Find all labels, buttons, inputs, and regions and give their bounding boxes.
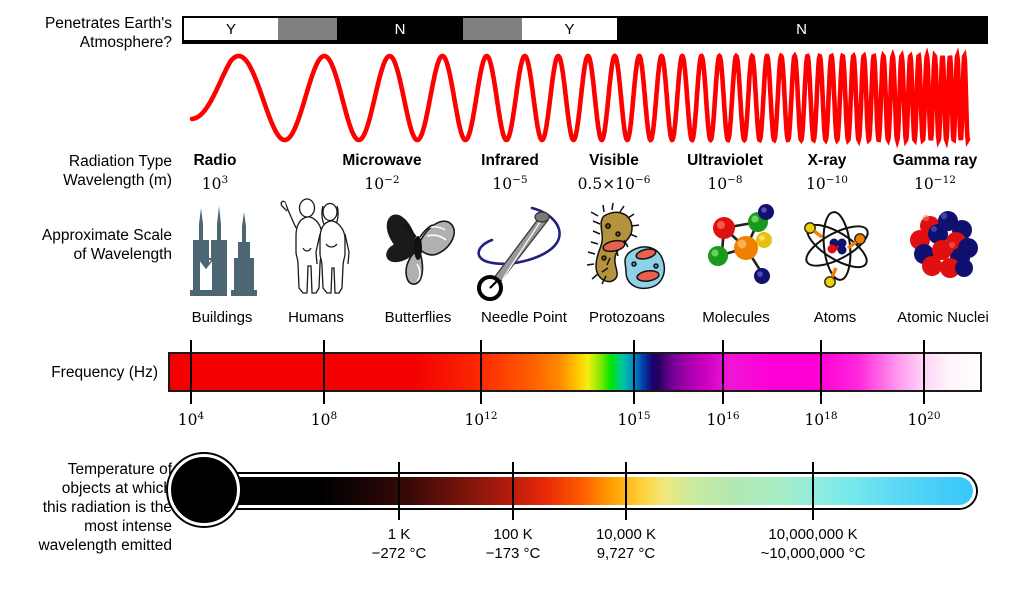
atmosphere-answer-n-5: N bbox=[617, 16, 986, 44]
wavelength-value-radio: 103 bbox=[125, 174, 305, 193]
temperature-tick-1 bbox=[512, 462, 514, 520]
buildings-icon bbox=[186, 198, 260, 298]
frequency-label-4: 104 bbox=[130, 410, 252, 429]
em-spectrum-diagram: Penetrates Earth's Atmosphere? YNYN Radi… bbox=[0, 0, 1010, 593]
frequency-label: Frequency (Hz) bbox=[6, 363, 158, 382]
atmosphere-answer-n-2: N bbox=[337, 16, 463, 44]
thermometer-bulb bbox=[168, 454, 240, 526]
atmosphere-label-line1: Penetrates Earth's bbox=[6, 14, 172, 33]
frequency-tick-18 bbox=[820, 340, 822, 404]
atmosphere-label-line2: Atmosphere? bbox=[6, 33, 172, 52]
humans-icon bbox=[277, 196, 357, 298]
atmosphere-segment-gray bbox=[463, 18, 522, 40]
em-wave-svg bbox=[180, 48, 980, 148]
temperature-celsius-3: ~10,000,000 °C bbox=[722, 544, 904, 563]
frequency-tick-12 bbox=[480, 340, 482, 404]
temperature-label-line1: Temperature of bbox=[6, 460, 172, 479]
temperature-row-label: Temperature ofobjects at whichthis radia… bbox=[6, 460, 172, 555]
frequency-tick-20 bbox=[923, 340, 925, 404]
frequency-label-8: 108 bbox=[263, 410, 385, 429]
wave-graphic bbox=[180, 48, 980, 148]
temperature-label-line4: most intense bbox=[6, 517, 172, 536]
temperature-label-line5: wavelength emitted bbox=[6, 536, 172, 555]
atmosphere-answer-y-0: Y bbox=[184, 16, 278, 44]
scale-row-label: Approximate Scale of Wavelength bbox=[6, 226, 172, 264]
wavelength-value-gamma-ray: 10−12 bbox=[845, 174, 1010, 193]
atmosphere-row-label: Penetrates Earth's Atmosphere? bbox=[6, 14, 172, 52]
butterfly-icon bbox=[377, 208, 461, 288]
temperature-tick-0 bbox=[398, 462, 400, 520]
temperature-kelvin-3: 10,000,000 K bbox=[722, 525, 904, 544]
radiation-type-radio: Radio bbox=[125, 152, 305, 170]
scale-name-atomic-nuclei: Atomic Nuclei bbox=[863, 309, 1010, 326]
scale-label-line1: Approximate Scale bbox=[6, 226, 172, 245]
atmosphere-segment-gray bbox=[278, 18, 337, 40]
frequency-tick-8 bbox=[323, 340, 325, 404]
frequency-label-20: 1020 bbox=[863, 410, 985, 429]
frequency-tick-15 bbox=[633, 340, 635, 404]
atom-icon bbox=[798, 198, 876, 294]
frequency-row-label: Frequency (Hz) bbox=[6, 363, 158, 382]
temperature-kelvin-2: 10,000 K bbox=[535, 525, 717, 544]
scale-label-line2: of Wavelength bbox=[6, 245, 172, 264]
temperature-label-2: 10,000 K9,727 °C bbox=[535, 525, 717, 563]
frequency-label-12: 1012 bbox=[420, 410, 542, 429]
frequency-tick-4 bbox=[190, 340, 192, 404]
needle-point-icon bbox=[470, 200, 578, 302]
frequency-tick-16 bbox=[722, 340, 724, 404]
temperature-celsius-2: 9,727 °C bbox=[535, 544, 717, 563]
molecule-icon bbox=[700, 200, 780, 292]
temperature-label-3: 10,000,000 K~10,000,000 °C bbox=[722, 525, 904, 563]
temperature-label-line3: this radiation is the bbox=[6, 498, 172, 517]
temperature-tick-3 bbox=[812, 462, 814, 520]
thermometer-tube bbox=[222, 474, 976, 508]
protozoa-icon bbox=[582, 200, 678, 296]
atomic-nucleus-icon bbox=[908, 208, 980, 284]
frequency-spectrum-bar bbox=[168, 352, 982, 392]
temperature-label-line2: objects at which bbox=[6, 479, 172, 498]
atmosphere-answer-y-4: Y bbox=[522, 16, 617, 44]
temperature-tick-2 bbox=[625, 462, 627, 520]
radiation-type-gamma-ray: Gamma ray bbox=[845, 152, 1010, 170]
